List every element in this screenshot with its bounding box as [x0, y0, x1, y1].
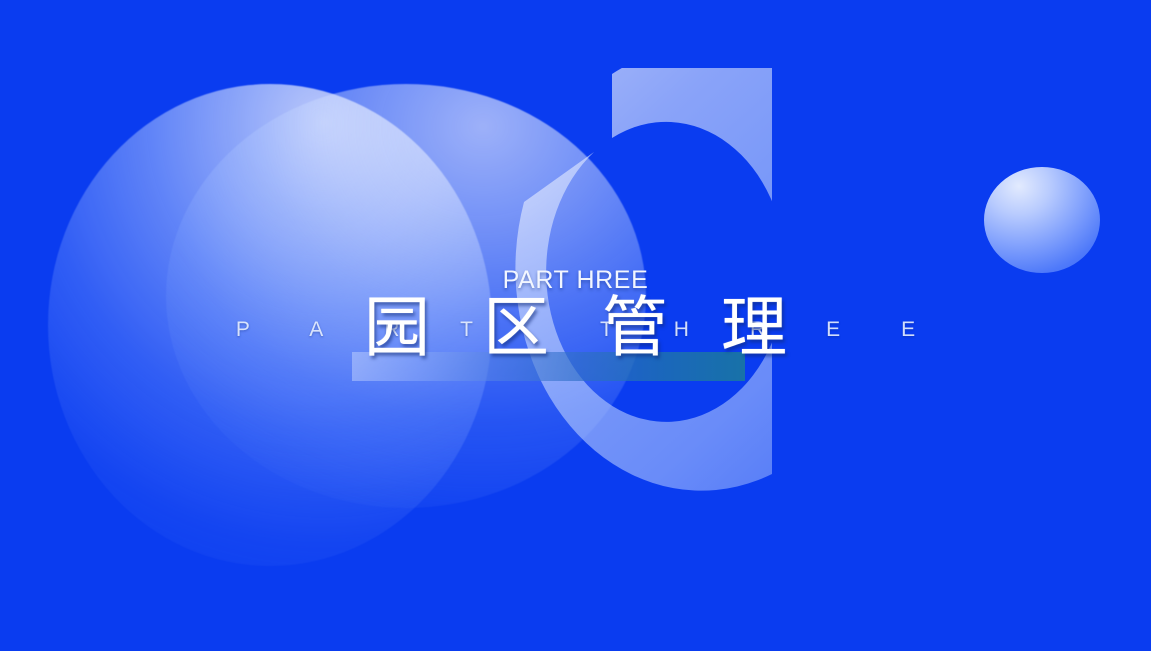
slide-text-layer: PART THREE PART HREE 园 区 管 理 [0, 0, 1151, 651]
slide-headline-title: 园 区 管 理 [0, 295, 1151, 361]
presentation-slide: PART THREE PART HREE 园 区 管 理 [0, 0, 1151, 651]
